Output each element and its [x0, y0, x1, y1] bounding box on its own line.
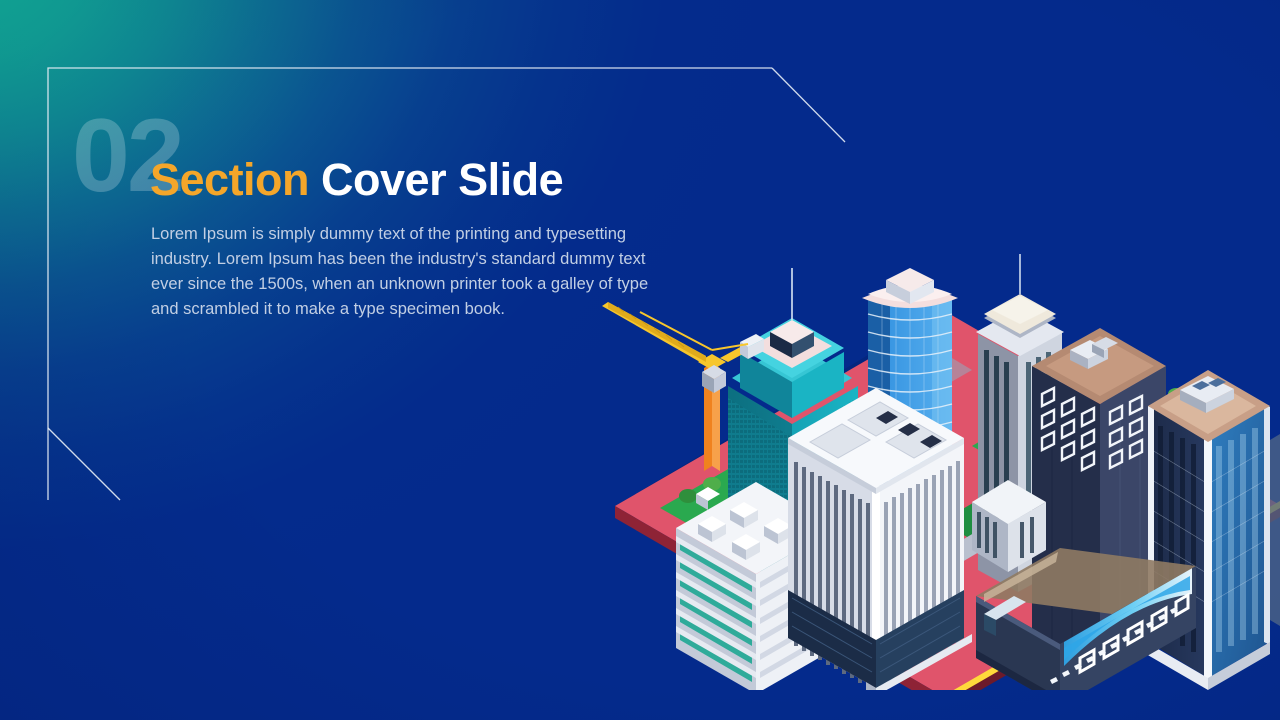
white-apartment-tower: [788, 388, 972, 690]
far-right-sliver-building: [1270, 434, 1280, 626]
isometric-city-skyline: [580, 150, 1280, 690]
page-title: Section Cover Slide: [150, 156, 563, 203]
title-plain-words: Cover Slide: [309, 154, 563, 205]
title-accent-word: Section: [150, 154, 309, 205]
slide-canvas: 02 Section Cover Slide Lorem Ipsum is si…: [0, 0, 1280, 720]
